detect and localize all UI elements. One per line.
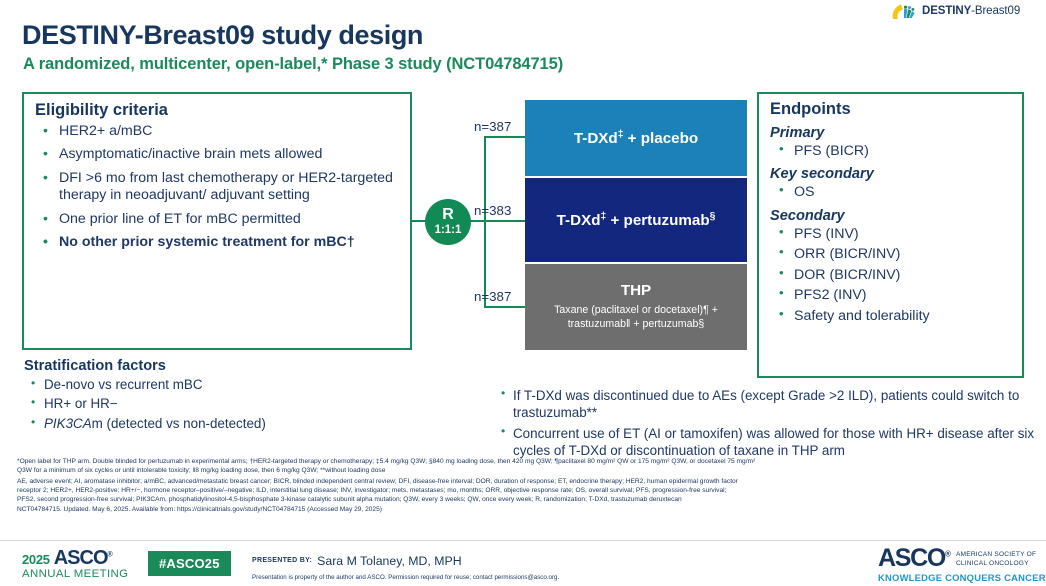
list-item: HER2+ a/mBC <box>35 123 402 140</box>
list-item: HR+ or HR− <box>24 396 424 412</box>
asco-annual-meeting-logo: 2025 ASCO® ANNUAL MEETING <box>22 548 128 580</box>
gene-name: PIK3CA <box>44 416 92 431</box>
arm-n-label: n=383 <box>474 203 511 218</box>
connector-line <box>484 306 525 308</box>
presented-by-label: PRESENTED BY: <box>252 557 312 564</box>
eligibility-criteria-box: Eligibility criteria HER2+ a/mBC Asympto… <box>22 92 412 350</box>
asco-society-logo: ASCO® AMERICAN SOCIETY OFCLINICAL ONCOLO… <box>878 547 1046 583</box>
page-subtitle: A randomized, multicenter, open-label,* … <box>23 55 563 74</box>
list-item: OS <box>770 183 1014 201</box>
asco-society-name: AMERICAN SOCIETY OFCLINICAL ONCOLOGY <box>956 547 1036 568</box>
list-item: Safety and tolerability <box>770 307 1014 325</box>
list-item: PFS2 (INV) <box>770 286 1014 304</box>
study-notes: If T-DXd was discontinued due to AEs (ex… <box>495 387 1035 463</box>
connector-line <box>484 220 525 222</box>
abbreviation-line: AE, adverse event; AI, aromatase inhibit… <box>17 477 1032 486</box>
presenter-name: Sara M Tolaney, MD, MPH <box>317 554 461 568</box>
list-item: ORR (BICR/INV) <box>770 245 1014 263</box>
page-title: DESTINY-Breast09 study design <box>22 20 423 51</box>
endpoints-key-secondary-list: OS <box>759 183 1022 201</box>
hashtag-badge: #ASCO25 <box>148 551 231 576</box>
presenter-block: PRESENTED BY:Sara M Tolaney, MD, MPH Pre… <box>252 552 559 581</box>
list-item: DOR (BICR/INV) <box>770 266 1014 284</box>
list-item: Concurrent use of ET (AI or tamoxifen) w… <box>495 425 1035 459</box>
treatment-arm-thp: THP Taxane (paclitaxel or docetaxel)¶ + … <box>525 264 747 350</box>
endpoints-secondary-list: PFS (INV) ORR (BICR/INV) DOR (BICR/INV) … <box>759 225 1022 325</box>
list-item: No other prior systemic treatment for mB… <box>35 234 402 251</box>
endpoints-box: Endpoints Primary PFS (BICR) Key seconda… <box>757 92 1024 378</box>
eligibility-heading: Eligibility criteria <box>35 101 410 120</box>
abbreviation-line: receptor 2; HER2+, HER2-positive; HR+/−,… <box>17 486 1032 495</box>
arm-title: T-DXd‡ + placebo <box>574 130 698 147</box>
arm-detail: Taxane (paclitaxel or docetaxel)¶ + tras… <box>525 304 747 332</box>
slide-root: DESTINY-Breast09 DESTINY-Breast09 study … <box>0 0 1046 585</box>
asco-wordmark: ASCO® <box>54 548 112 568</box>
endpoints-primary-label: Primary <box>770 125 1022 141</box>
randomization-label: R <box>442 207 454 223</box>
randomization-node: R 1:1:1 <box>425 199 471 245</box>
gene-rest: m (detected vs non-detected) <box>92 416 266 431</box>
stratification-factors: Stratification factors De-novo vs recurr… <box>24 358 424 435</box>
arm-n-label: n=387 <box>474 289 511 304</box>
stratification-list: De-novo vs recurrent mBC HR+ or HR− PIK3… <box>24 377 424 431</box>
endpoints-key-secondary-label: Key secondary <box>770 166 1022 182</box>
arm-n-label: n=387 <box>474 119 511 134</box>
endpoints-secondary-label: Secondary <box>770 208 1022 224</box>
destiny-fan-icon <box>892 2 918 20</box>
footnote-line: *Open label for THP arm. Double blinded … <box>17 457 1032 466</box>
brand-label: DESTINY-Breast09 <box>922 5 1020 17</box>
list-item: De-novo vs recurrent mBC <box>24 377 424 393</box>
arm-title: T-DXd‡ + pertuzumab§ <box>557 212 716 229</box>
endpoints-heading: Endpoints <box>770 100 1022 119</box>
source-citation: NCT04784715. Updated. May 6, 2025. Avail… <box>17 505 1032 514</box>
stratification-heading: Stratification factors <box>24 358 424 374</box>
endpoints-primary-list: PFS (BICR) <box>759 142 1022 160</box>
list-item: DFI >6 mo from last chemotherapy or HER2… <box>35 170 402 205</box>
asco-tagline: KNOWLEDGE CONQUERS CANCER <box>878 572 1046 583</box>
permission-text: Presentation is property of the author a… <box>252 574 559 581</box>
list-item: If T-DXd was discontinued due to AEs (ex… <box>495 387 1035 421</box>
footnote-line: Q3W for a minimum of six cycles or until… <box>17 466 1032 475</box>
list-item: One prior line of ET for mBC permitted <box>35 211 402 228</box>
treatment-arm-tdxd-pertuzumab: T-DXd‡ + pertuzumab§ <box>525 178 747 262</box>
asco-year: 2025 <box>22 553 50 566</box>
connector-line <box>484 136 525 138</box>
arm-title: THP <box>621 282 651 299</box>
eligibility-list: HER2+ a/mBC Asymptomatic/inactive brain … <box>24 123 410 252</box>
destiny-breast09-logo: DESTINY-Breast09 <box>892 2 1020 20</box>
footnotes-block: *Open label for THP arm. Double blinded … <box>17 457 1032 514</box>
connector-line <box>412 220 426 222</box>
randomization-ratio: 1:1:1 <box>435 223 462 237</box>
asco-wordmark-right: ASCO® <box>878 547 951 571</box>
asco-annual-meeting-label: ANNUAL MEETING <box>22 569 128 580</box>
list-item: PFS (INV) <box>770 225 1014 243</box>
list-item: PFS (BICR) <box>770 142 1014 160</box>
list-item: Asymptomatic/inactive brain mets allowed <box>35 146 402 163</box>
abbreviation-line: PFS2, second progression-free survival; … <box>17 495 1032 504</box>
list-item: PIK3CAm (detected vs non-detected) <box>24 416 424 432</box>
treatment-arm-tdxd-placebo: T-DXd‡ + placebo <box>525 100 747 176</box>
notes-list: If T-DXd was discontinued due to AEs (ex… <box>495 387 1035 459</box>
